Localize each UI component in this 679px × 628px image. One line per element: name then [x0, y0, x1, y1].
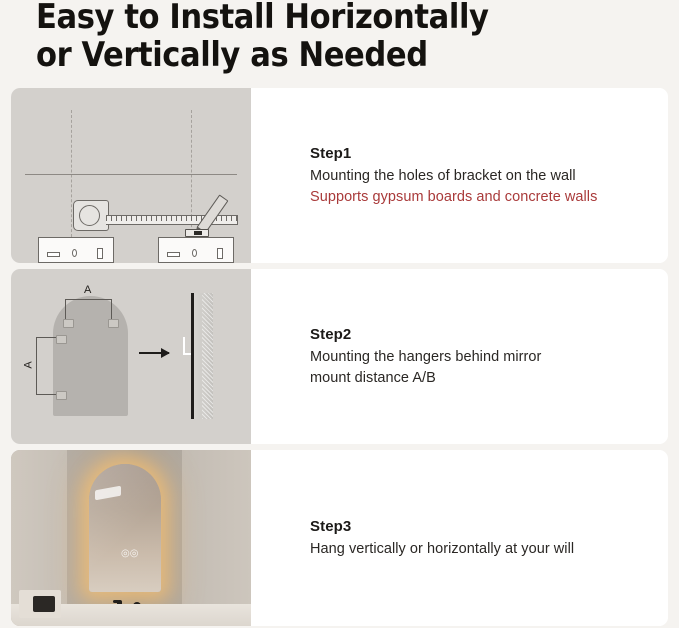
dimension-label-top: A — [84, 284, 91, 296]
side-hanger-icon — [183, 337, 191, 355]
mounting-bracket-left-icon — [38, 237, 114, 263]
bracket-slot — [167, 252, 180, 257]
bracket-hole — [192, 249, 197, 257]
dimension-bracket-left — [36, 337, 58, 395]
step-line: Mounting the hangers behind mirror — [310, 347, 650, 368]
arrow-right-icon — [139, 352, 169, 354]
touch-sensor-icon: ◎◎ — [121, 549, 137, 558]
bracket-slot — [217, 248, 223, 259]
step-2-text: Step2 Mounting the hangers behind mirror… — [251, 269, 668, 444]
tape-ticks — [106, 216, 237, 221]
wall-panel-right — [182, 450, 251, 626]
bracket-slot — [97, 248, 103, 259]
mirror-side-view-icon — [191, 293, 213, 419]
guide-line-vertical-left — [71, 110, 72, 242]
step-3-photo: ◎◎ — [11, 450, 251, 626]
bracket-hole — [72, 249, 77, 257]
step-line-accent: Supports gypsum boards and concrete wall… — [310, 187, 650, 208]
hanger-icon — [56, 391, 67, 400]
arch-led-mirror: ◎◎ — [89, 464, 161, 592]
mounting-bracket-right-icon — [158, 237, 234, 263]
hanger-icon — [56, 335, 67, 344]
step-card-1: Step1 Mounting the holes of bracket on t… — [11, 88, 668, 263]
step-title: Step2 — [310, 324, 650, 346]
step-card-2: A A Step2 Mounting the hangers behind mi… — [11, 269, 668, 444]
pencil-icon — [197, 194, 229, 233]
dimension-bracket-top — [65, 299, 112, 321]
hanger-icon — [108, 319, 119, 328]
step-title: Step1 — [310, 143, 650, 165]
step-2-illustration: A A — [11, 269, 251, 444]
install-instructions-page: Easy to Install Horizontally or Vertical… — [0, 0, 679, 628]
tape-measure-icon — [73, 200, 109, 231]
step-1-illustration — [11, 88, 251, 263]
bracket-slot — [47, 252, 60, 257]
step-1-text: Step1 Mounting the holes of bracket on t… — [251, 88, 668, 263]
bubble-level-icon — [185, 229, 209, 237]
step-card-3: ◎◎ Step3 Hang vertically or horizontally… — [11, 450, 668, 626]
outlet-icon — [33, 596, 55, 612]
dimension-label-left: A — [23, 361, 35, 368]
step-title: Step3 — [310, 516, 650, 538]
step-line: Mounting the holes of bracket on the wal… — [310, 166, 650, 187]
step-line: Hang vertically or horizontally at your … — [310, 539, 650, 560]
step-3-text: Step3 Hang vertically or horizontally at… — [251, 450, 668, 626]
hanger-icon — [63, 319, 74, 328]
tape-blade-icon — [106, 215, 238, 225]
page-title: Easy to Install Horizontally or Vertical… — [36, 0, 636, 74]
step-line: mount distance A/B — [310, 368, 650, 389]
guide-line-horizontal — [25, 174, 237, 175]
